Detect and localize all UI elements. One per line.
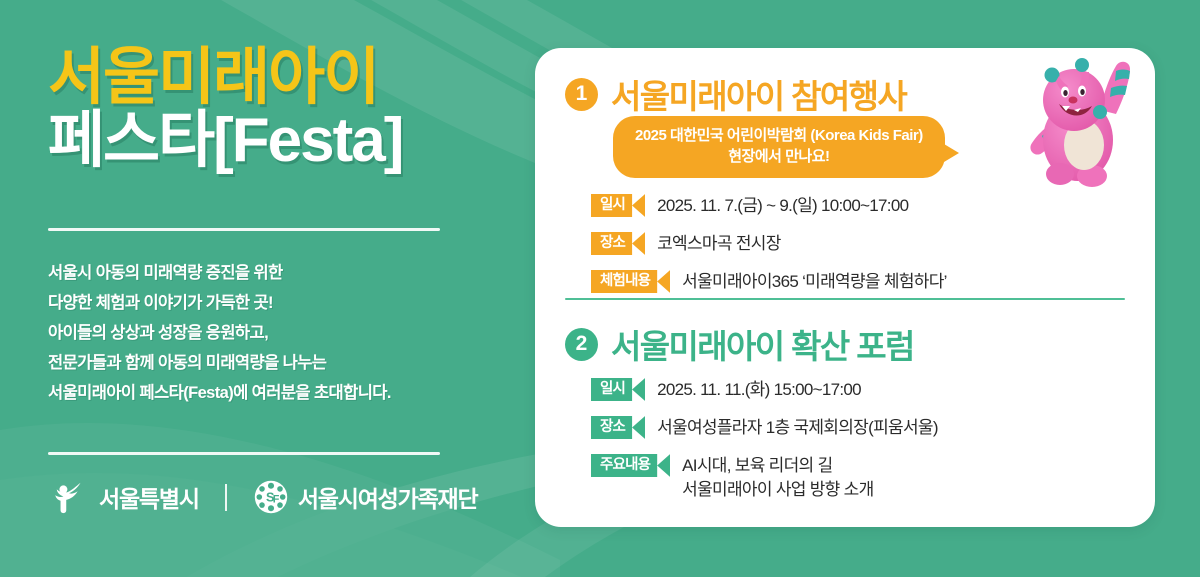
value-line: AI시대, 보육 리더의 길 xyxy=(682,454,873,478)
detail-row-tag: 일시 xyxy=(591,378,645,401)
value-line: 서울여성플라자 1층 국제회의장(피움서울) xyxy=(657,416,938,440)
logo-seoul-city-label: 서울특별시 xyxy=(99,480,199,514)
detail-row-tag: 주요내용 xyxy=(591,454,670,477)
svg-text:F: F xyxy=(273,493,280,505)
logo-womens-foundation: S F 서울시여성가족재단 xyxy=(253,479,478,515)
section-2-number-badge: 2 xyxy=(565,328,598,361)
logo-separator xyxy=(225,484,227,511)
section-2-title: 서울미래아이 확산 포럼 xyxy=(611,320,914,368)
value-line: 코엑스마곡 전시장 xyxy=(657,232,781,256)
divider-above-logos xyxy=(48,452,440,455)
title-line-primary: 서울미래아이 xyxy=(48,46,402,109)
divider-under-title xyxy=(48,228,440,231)
section-1-header: 1 서울미래아이 참여행사 xyxy=(565,70,906,118)
detail-row-value: 코엑스마곡 전시장 xyxy=(657,232,781,256)
description-line: 전문가들과 함께 아동의 미래역량을 나누는 xyxy=(48,348,391,378)
section-divider xyxy=(565,298,1125,300)
detail-row: 장소 코엑스마곡 전시장 xyxy=(591,232,947,256)
detail-row-value: 2025. 11. 11.(화) 15:00~17:00 xyxy=(657,378,861,402)
value-line: 서울미래아이 사업 방향 소개 xyxy=(682,478,873,502)
detail-row: 일시 2025. 11. 7.(금) ~ 9.(일) 10:00~17:00 xyxy=(591,194,947,218)
detail-row: 장소 서울여성플라자 1층 국제회의장(피움서울) xyxy=(591,416,938,440)
logo-womens-foundation-label: 서울시여성가족재단 xyxy=(298,480,478,514)
description-line: 다양한 체험과 이야기가 가득한 곳! xyxy=(48,288,391,318)
section-1-detail-rows: 일시 2025. 11. 7.(금) ~ 9.(일) 10:00~17:00 장… xyxy=(591,194,947,308)
detail-row: 주요내용 AI시대, 보육 리더의 길 서울미래아이 사업 방향 소개 xyxy=(591,454,938,502)
sf-flower-icon: S F xyxy=(253,479,289,515)
detail-row-tag: 체험내용 xyxy=(591,270,670,293)
detail-row-value: AI시대, 보육 리더의 길 서울미래아이 사업 방향 소개 xyxy=(682,454,873,502)
value-line: 2025. 11. 11.(화) 15:00~17:00 xyxy=(657,378,861,402)
description-block: 서울시 아동의 미래역량 증진을 위한 다양한 체험과 이야기가 가득한 곳! … xyxy=(48,258,391,408)
event-highlight-bubble: 2025 대한민국 어린이박람회 (Korea Kids Fair) 현장에서 … xyxy=(613,116,945,178)
detail-row-tag: 일시 xyxy=(591,194,645,217)
detail-row-tag: 장소 xyxy=(591,232,645,255)
poster-title: 서울미래아이 페스타[Festa] xyxy=(48,46,402,172)
detail-row-value: 서울여성플라자 1층 국제회의장(피움서울) xyxy=(657,416,938,440)
pink-monster-mascot xyxy=(1012,48,1147,193)
section-1-title: 서울미래아이 참여행사 xyxy=(611,70,906,118)
logo-seoul-city: 서울특별시 xyxy=(52,478,199,516)
sponsor-logos: 서울특별시 S F 서울시여성가족재단 xyxy=(52,478,477,516)
description-line: 서울시 아동의 미래역량 증진을 위한 xyxy=(48,258,391,288)
section-2-header: 2 서울미래아이 확산 포럼 xyxy=(565,320,914,368)
description-line: 아이들의 상상과 성장을 응원하고, xyxy=(48,318,391,348)
detail-row-tag: 장소 xyxy=(591,416,645,439)
detail-row: 일시 2025. 11. 11.(화) 15:00~17:00 xyxy=(591,378,938,402)
section-2-detail-rows: 일시 2025. 11. 11.(화) 15:00~17:00 장소 서울여성플… xyxy=(591,378,938,516)
title-line-secondary: 페스타[Festa] xyxy=(48,109,402,172)
section-1-number-badge: 1 xyxy=(565,78,598,111)
seoul-person-icon xyxy=(52,478,90,516)
value-line: 서울미래아이365 ‘미래역량을 체험하다’ xyxy=(682,270,947,294)
detail-row: 체험내용 서울미래아이365 ‘미래역량을 체험하다’ xyxy=(591,270,947,294)
bubble-line: 2025 대한민국 어린이박람회 (Korea Kids Fair) xyxy=(635,125,923,146)
value-line: 2025. 11. 7.(금) ~ 9.(일) 10:00~17:00 xyxy=(657,194,908,218)
detail-row-value: 2025. 11. 7.(금) ~ 9.(일) 10:00~17:00 xyxy=(657,194,908,218)
left-intro-column: 서울미래아이 페스타[Festa] 서울시 아동의 미래역량 증진을 위한 다양… xyxy=(0,0,525,577)
detail-row-value: 서울미래아이365 ‘미래역량을 체험하다’ xyxy=(682,270,947,294)
description-line: 서울미래아이 페스타(Festa)에 여러분을 초대합니다. xyxy=(48,378,391,408)
bubble-line: 현장에서 만나요! xyxy=(635,146,923,167)
